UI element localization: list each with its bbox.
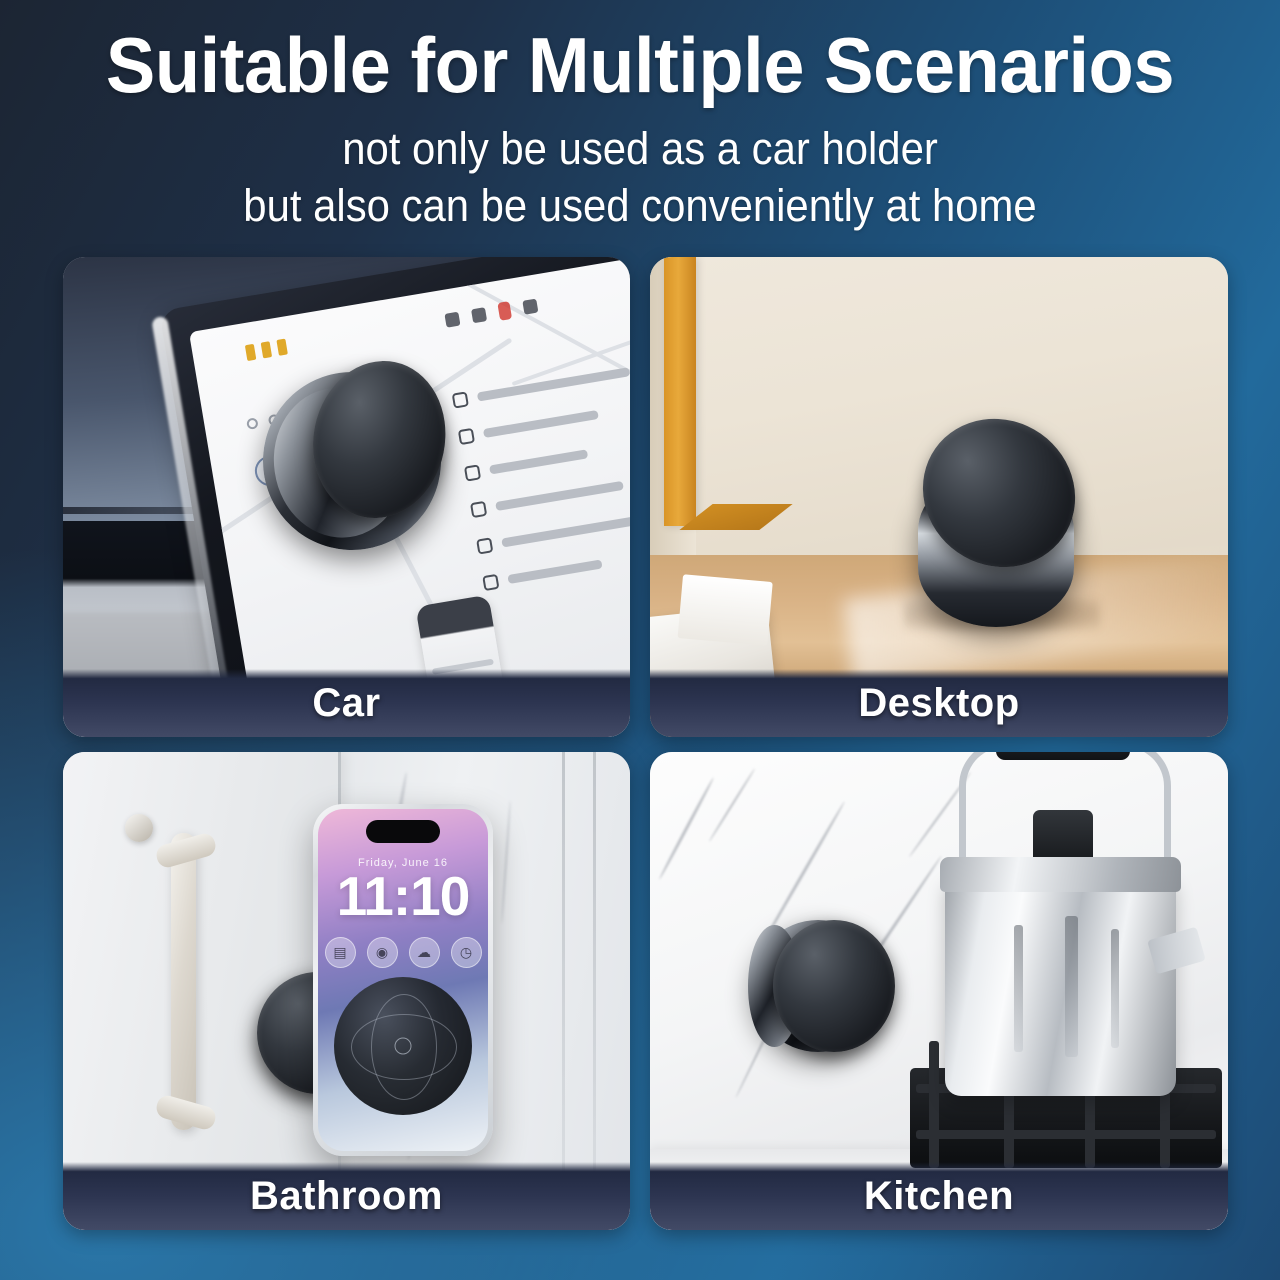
door-seam xyxy=(593,752,596,1230)
tesla-logo-icon xyxy=(523,298,539,314)
kettle-lid xyxy=(940,857,1180,892)
car-scene-image xyxy=(63,257,630,737)
status-icon xyxy=(445,311,461,327)
scenario-label-car: Car xyxy=(312,681,380,726)
kettle-reflection xyxy=(1014,925,1023,1053)
camera-icon: ◉ xyxy=(367,937,398,968)
menu-label xyxy=(477,367,630,401)
lock-screen-widgets: ▤ ◉ ☁ ◷ xyxy=(318,937,488,968)
magsafe-contact-shadow xyxy=(334,977,472,1115)
kettle-grip xyxy=(996,752,1130,760)
door-seam xyxy=(562,752,565,1230)
battery-icon xyxy=(498,301,513,321)
screen-status-icons xyxy=(444,296,539,329)
lock-screen-time: 11:10 xyxy=(318,869,488,924)
scenario-label-desktop: Desktop xyxy=(858,681,1019,726)
menu-icon xyxy=(470,501,487,518)
calculator-icon: ▤ xyxy=(325,937,356,968)
scenario-grid: Car Desktop xyxy=(63,257,1228,1230)
mount-magnetic-face xyxy=(773,920,894,1052)
page-subtitle: not only be used as a car holder but als… xyxy=(45,120,1235,234)
scenario-label-bathroom: Bathroom xyxy=(250,1174,443,1219)
menu-label xyxy=(496,481,624,511)
menu-icon xyxy=(452,391,469,408)
scenario-card-bathroom[interactable]: Friday, June 16 11:10 ▤ ◉ ☁ ◷ xyxy=(63,752,630,1230)
menu-label xyxy=(490,449,588,474)
menu-row xyxy=(452,359,630,409)
picture-frame xyxy=(664,257,696,526)
subtitle-line-1: not only be used as a car holder xyxy=(45,120,1235,177)
status-icon xyxy=(471,307,487,323)
weather-icon: ☁ xyxy=(409,937,440,968)
scenario-label-kitchen: Kitchen xyxy=(864,1174,1014,1219)
menu-icon xyxy=(483,574,500,591)
card-label-band: Car xyxy=(63,669,630,737)
desktop-scene-image xyxy=(650,257,1228,737)
grate-bar xyxy=(929,1041,939,1167)
grate-bar xyxy=(916,1130,1216,1139)
screen-menu-list xyxy=(452,359,630,592)
menu-icon xyxy=(477,537,494,554)
bathroom-scene-image: Friday, June 16 11:10 ▤ ◉ ☁ ◷ xyxy=(63,752,630,1230)
menu-label xyxy=(483,410,598,438)
menu-label xyxy=(508,560,602,584)
warning-icon xyxy=(245,338,288,361)
scenario-card-desktop[interactable]: Desktop xyxy=(650,257,1228,737)
magnetic-mount-device xyxy=(251,360,452,561)
promo-poster: Suitable for Multiple Scenarios not only… xyxy=(0,0,1280,1280)
magnetic-mount-device xyxy=(752,920,884,1052)
stainless-kettle xyxy=(945,876,1176,1096)
phone-lock-screen: Friday, June 16 11:10 ▤ ◉ ☁ ◷ xyxy=(318,809,488,1151)
kettle-reflection xyxy=(1111,929,1119,1048)
clock-icon: ◷ xyxy=(451,937,482,968)
kettle-reflection xyxy=(1065,916,1078,1057)
page-title: Suitable for Multiple Scenarios xyxy=(32,26,1248,106)
magnetic-mount-device xyxy=(918,471,1074,627)
header: Suitable for Multiple Scenarios not only… xyxy=(0,0,1280,234)
dynamic-island xyxy=(366,820,440,843)
card-label-band: Bathroom xyxy=(63,1162,630,1230)
mount-center-dot xyxy=(395,1038,412,1055)
mounted-smartphone: Friday, June 16 11:10 ▤ ◉ ☁ ◷ xyxy=(313,804,493,1156)
door-handle xyxy=(171,833,196,1129)
scenario-card-kitchen[interactable]: Kitchen xyxy=(650,752,1228,1230)
scenario-card-car[interactable]: Car xyxy=(63,257,630,737)
subtitle-line-2: but also can be used conveniently at hom… xyxy=(45,177,1235,234)
kitchen-scene-image xyxy=(650,752,1228,1230)
card-label-band: Kitchen xyxy=(650,1162,1228,1230)
card-label-band: Desktop xyxy=(650,669,1228,737)
menu-label xyxy=(502,515,630,548)
menu-icon xyxy=(464,464,481,481)
menu-icon xyxy=(458,428,475,445)
